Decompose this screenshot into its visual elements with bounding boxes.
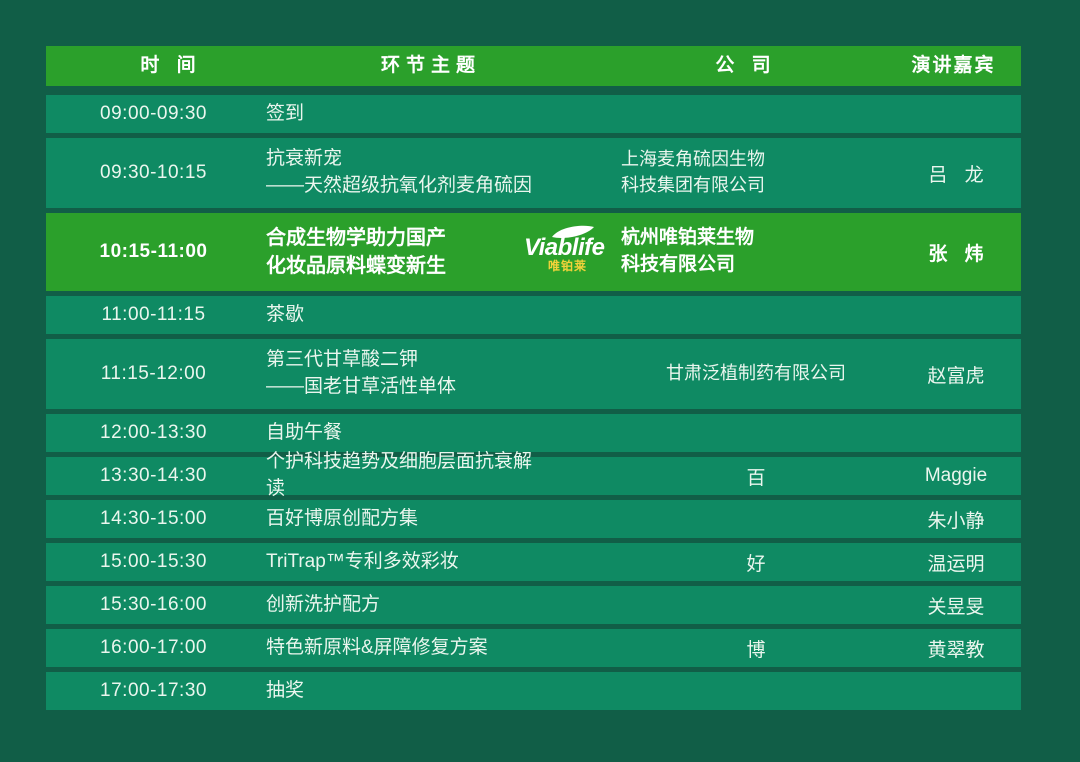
cell-company-line1: 甘肃泛植制药有限公司 — [666, 361, 846, 387]
cell-topic: 个护科技趋势及细胞层面抗衰解读 — [266, 449, 536, 503]
cell-topic: 签到 — [266, 101, 536, 128]
cell-topic: 抽奖 — [266, 678, 536, 705]
cell-company-vertical-char: 好 — [621, 543, 891, 581]
cell-company: 杭州唯铂莱生物 科技有限公司 — [621, 213, 891, 291]
logo-chinese-name: 唯铂莱 — [548, 260, 587, 272]
cell-topic: 创新洗护配方 — [266, 592, 536, 619]
cell-time: 11:15-12:00 — [46, 339, 261, 409]
cell-company-line2: 科技集团有限公司 — [621, 173, 891, 199]
cell-time: 13:30-14:30 — [46, 457, 261, 495]
cell-topic-line1: 抗衰新宠 — [266, 146, 536, 173]
table-row[interactable]: 17:00-17:30 抽奖 — [46, 672, 1021, 710]
cell-topic-line2: ——国老甘草活性单体 — [266, 374, 536, 401]
cell-speaker: 温运明 — [891, 543, 1021, 581]
column-header-time: 时 间 — [46, 46, 296, 86]
cell-speaker — [891, 296, 1021, 334]
cell-topic: 第三代甘草酸二钾 ——国老甘草活性单体 — [266, 339, 536, 409]
cell-time: 11:00-11:15 — [46, 296, 261, 334]
cell-topic: 合成生物学助力国产 化妆品原料蝶变新生 — [266, 213, 536, 291]
cell-topic-line2: ——天然超级抗氧化剂麦角硫因 — [266, 173, 536, 200]
table-row[interactable]: 13:30-14:30 个护科技趋势及细胞层面抗衰解读 百 Maggie — [46, 457, 1021, 495]
cell-company-line1: 上海麦角硫因生物 — [621, 147, 891, 173]
cell-speaker: 朱小静 — [891, 500, 1021, 538]
column-header-company: 公 司 — [606, 46, 886, 86]
cell-time: 14:30-15:00 — [46, 500, 261, 538]
cell-topic-line1: 第三代甘草酸二钾 — [266, 347, 536, 374]
cell-company: 上海麦角硫因生物 科技集团有限公司 — [621, 138, 891, 208]
table-row[interactable]: 15:00-15:30 TriTrap™专利多效彩妆 好 温运明 — [46, 543, 1021, 581]
cell-speaker: 赵富虎 — [891, 339, 1021, 409]
cell-time: 16:00-17:00 — [46, 629, 261, 667]
cell-company-vertical-char: 博 — [621, 629, 891, 667]
cell-company-vertical-char: 百 — [621, 457, 891, 495]
cell-speaker — [891, 414, 1021, 452]
cell-speaker: 黄翠教 — [891, 629, 1021, 667]
cell-speaker: 关昱旻 — [891, 586, 1021, 624]
cell-speaker: 吕 龙 — [891, 138, 1021, 208]
cell-topic: 自助午餐 — [266, 420, 536, 447]
table-row[interactable]: 12:00-13:30 自助午餐 — [46, 414, 1021, 452]
viablife-logo: Viablife ® 唯铂莱 — [524, 224, 634, 280]
table-row[interactable]: 09:30-10:15 抗衰新宠 ——天然超级抗氧化剂麦角硫因 上海麦角硫因生物… — [46, 138, 1021, 208]
cell-company: 甘肃泛植制药有限公司 — [621, 339, 891, 409]
table-row[interactable]: 15:30-16:00 创新洗护配方 关昱旻 — [46, 586, 1021, 624]
table-row[interactable]: 11:15-12:00 第三代甘草酸二钾 ——国老甘草活性单体 甘肃泛植制药有限… — [46, 339, 1021, 409]
cell-topic: 茶歇 — [266, 302, 536, 329]
cell-speaker — [891, 672, 1021, 710]
cell-time: 12:00-13:30 — [46, 414, 261, 452]
cell-topic-line1: 合成生物学助力国产 — [266, 224, 536, 252]
cell-topic: 特色新原料&屏障修复方案 — [266, 635, 536, 662]
table-row[interactable]: 09:00-09:30 签到 — [46, 95, 1021, 133]
cell-topic: 百好博原创配方集 — [266, 506, 536, 533]
table-header-row: 时 间 环节主题 公 司 演讲嘉宾 — [46, 46, 1021, 86]
cell-topic-line2: 化妆品原料蝶变新生 — [266, 252, 536, 280]
cell-topic: 抗衰新宠 ——天然超级抗氧化剂麦角硫因 — [266, 138, 536, 208]
table-row[interactable]: 11:00-11:15 茶歇 — [46, 296, 1021, 334]
column-header-topic: 环节主题 — [296, 46, 566, 86]
cell-speaker: 张 炜 — [891, 213, 1021, 291]
cell-topic: TriTrap™专利多效彩妆 — [266, 549, 536, 576]
cell-time: 09:30-10:15 — [46, 138, 261, 208]
cell-company-line2: 科技有限公司 — [621, 252, 891, 279]
cell-company-line1: 杭州唯铂莱生物 — [621, 225, 891, 252]
cell-time: 15:00-15:30 — [46, 543, 261, 581]
cell-speaker — [891, 95, 1021, 133]
table-row[interactable]: 14:30-15:00 百好博原创配方集 朱小静 — [46, 500, 1021, 538]
table-row-highlighted[interactable]: 10:15-11:00 合成生物学助力国产 化妆品原料蝶变新生 Viablife… — [46, 213, 1021, 291]
cell-speaker: Maggie — [891, 457, 1021, 495]
column-header-speaker: 演讲嘉宾 — [886, 46, 1021, 86]
cell-time: 10:15-11:00 — [46, 213, 261, 291]
cell-time: 15:30-16:00 — [46, 586, 261, 624]
cell-time: 09:00-09:30 — [46, 95, 261, 133]
table-row[interactable]: 16:00-17:00 特色新原料&屏障修复方案 博 黄翠教 — [46, 629, 1021, 667]
cell-time: 17:00-17:30 — [46, 672, 261, 710]
logo-wordmark: Viablife — [524, 236, 604, 260]
agenda-schedule-table: 时 间 环节主题 公 司 演讲嘉宾 09:00-09:30 签到 09:30-1… — [46, 46, 1021, 715]
